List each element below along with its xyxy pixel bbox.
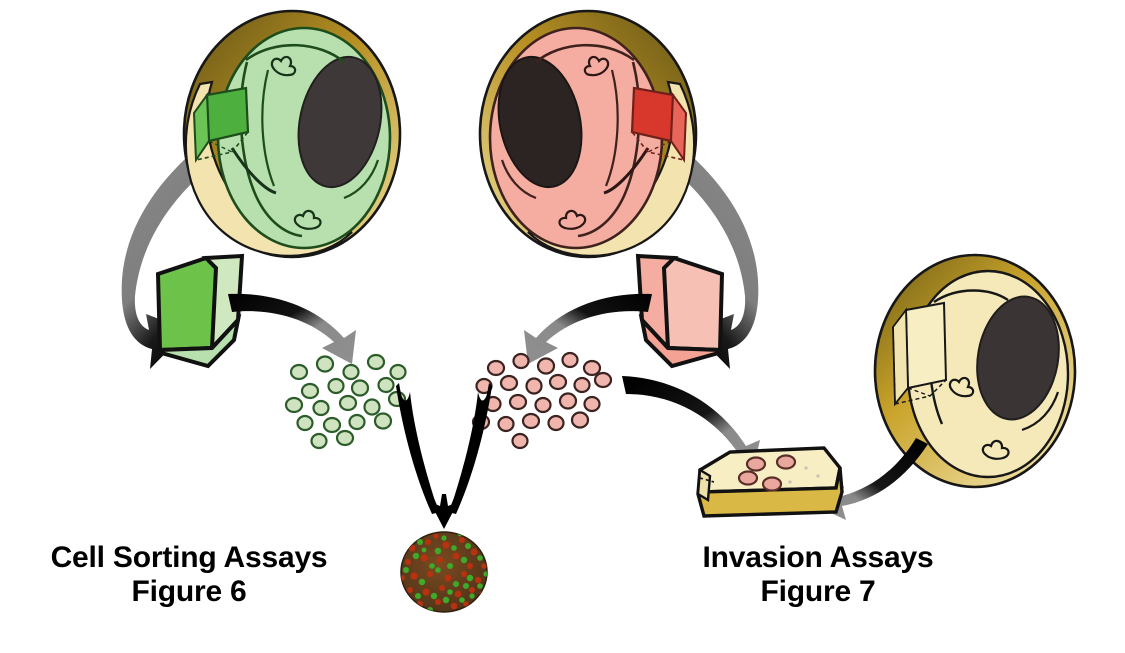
caption-left-line2: Figure 6: [0, 575, 378, 609]
arrow-green-cells-to-aggregate: [396, 382, 440, 514]
arrow-pink-explant-to-cells: [524, 294, 652, 364]
arrow-green-explant-to-cells: [228, 294, 356, 364]
caption-left-line1: Cell Sorting Assays: [0, 541, 378, 575]
caption-left: Cell Sorting Assays Figure 6: [0, 541, 378, 608]
dissociated-green-cells: [286, 355, 406, 448]
host-embryo-unlabeled: [875, 255, 1075, 487]
arrow-pink-cells-to-aggregate: [448, 382, 492, 514]
sorted-cell-aggregate: [397, 532, 490, 613]
host-tissue-slab: [698, 448, 842, 516]
slab-left-face: [698, 470, 710, 500]
pink-explant-block: [638, 256, 722, 366]
dissociated-pink-cells: [473, 353, 611, 448]
green-explant-block: [158, 256, 242, 366]
donor-embryo-pink: [480, 11, 696, 257]
figure-canvas: Cell Sorting Assays Figure 6 Invasion As…: [0, 0, 1125, 653]
caption-right-line1: Invasion Assays: [618, 541, 1018, 575]
caption-right: Invasion Assays Figure 7: [618, 541, 1018, 608]
donor-embryo-green: [184, 11, 400, 257]
caption-right-line2: Figure 7: [618, 575, 1018, 609]
